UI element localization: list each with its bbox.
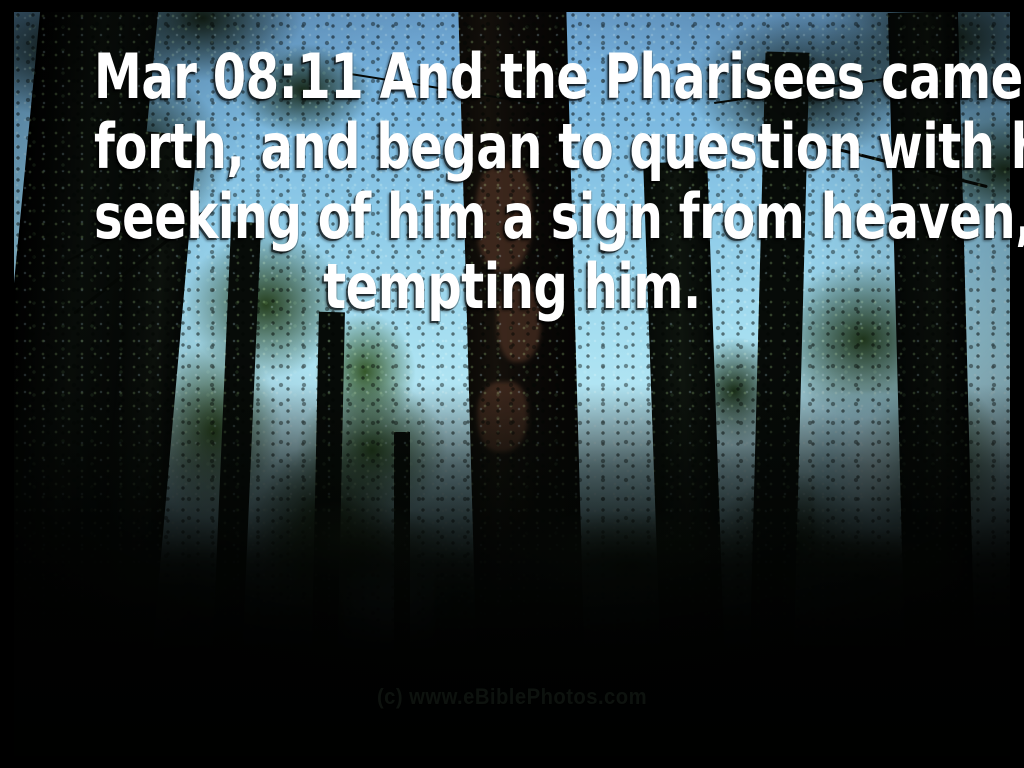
verse-text-overlay: Mar 08:11 And the Pharisees came forth, … (0, 42, 1024, 322)
verse-line-1: Mar 08:11 And the Pharisees came (94, 42, 930, 112)
verse-line-3: seeking of him a sign from heaven, (94, 182, 930, 252)
watermark-credit: (c) www.eBiblePhotos.com (41, 684, 983, 710)
image-frame: Mar 08:11 And the Pharisees came forth, … (0, 0, 1024, 768)
verse-line-4: tempting him. (94, 252, 930, 322)
verse-line-2: forth, and began to question with him, (94, 112, 930, 182)
